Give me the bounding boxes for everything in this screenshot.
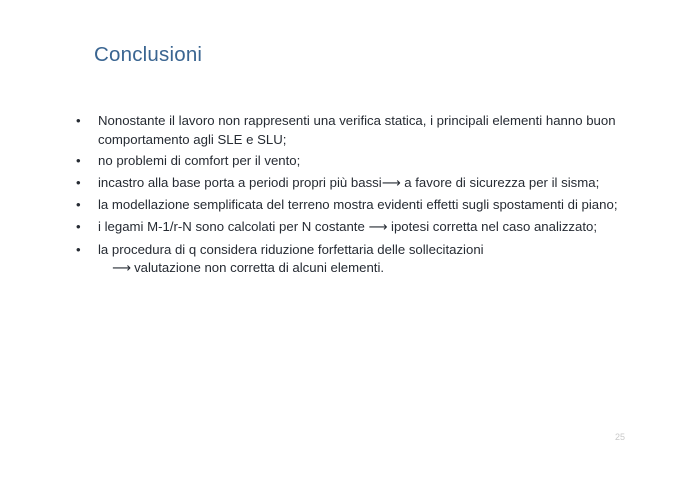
page-number: 25 [608,431,632,443]
list-item-text-after-arrow: a favore di sicurezza per il sisma; [401,175,600,190]
list-item-label: la procedura di q considera riduzione fo… [98,241,652,279]
list-item-label: Nonostante il lavoro non rappresenti una… [98,112,652,149]
bullet-marker-icon: • [76,152,86,171]
list-item-text-after-arrow: ipotesi corretta nel caso analizzato; [387,219,597,234]
list-item: • la procedura di q considera riduzione … [70,241,652,279]
list-item-text-before-arrow: i legami M-1/r-N sono calcolati per N co… [98,219,368,234]
list-item-label: incastro alla base porta a periodi propr… [98,174,652,194]
bullet-marker-icon: • [76,241,86,260]
list-item-label: la modellazione semplificata del terreno… [98,196,652,215]
list-item-text-before-arrow: incastro alla base porta a periodi propr… [98,175,382,190]
conclusions-bullet-list: • Nonostante il lavoro non rappresenti u… [70,112,652,282]
list-item: • i legami M-1/r-N sono calcolati per N … [70,218,652,238]
bullet-marker-icon: • [76,174,86,193]
right-arrow-icon: ⟶ [382,175,401,194]
list-item: • Nonostante il lavoro non rappresenti u… [70,112,652,149]
bullet-marker-icon: • [76,218,86,237]
right-arrow-icon: ⟶ [368,219,387,238]
list-item-label: i legami M-1/r-N sono calcolati per N co… [98,218,652,238]
list-item-sub-line: ⟶ valutazione non corretta di alcuni ele… [98,259,652,279]
list-item-sub-line-label: valutazione non corretta di alcuni eleme… [130,260,384,275]
bullet-marker-icon: • [76,112,86,131]
list-item: • no problemi di comfort per il vento; [70,152,652,171]
list-item: • incastro alla base porta a periodi pro… [70,174,652,194]
page-title: Conclusioni [94,42,202,68]
long-right-arrow-icon: ⟶ [112,260,130,279]
list-item-first-line: la procedura di q considera riduzione fo… [98,242,484,257]
bullet-marker-icon: • [76,196,86,215]
list-item-label: no problemi di comfort per il vento; [98,152,652,171]
slide-canvas: Conclusioni • Nonostante il lavoro non r… [0,0,700,492]
list-item: • la modellazione semplificata del terre… [70,196,652,215]
